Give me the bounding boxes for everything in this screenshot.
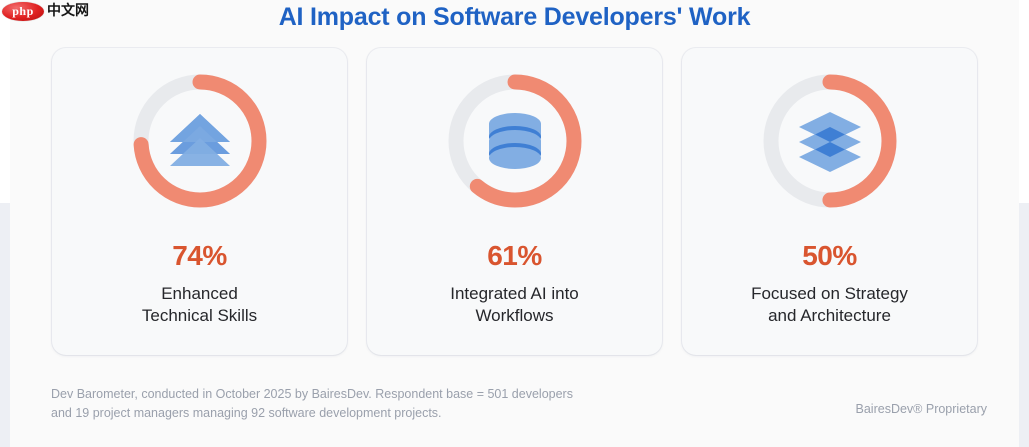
donut-gauge-1 — [125, 66, 275, 216]
donut-gauge-2-svg — [440, 66, 590, 216]
site-watermark-logo: php 中文网 — [2, 1, 89, 21]
donut-gauge-3-svg — [755, 66, 905, 216]
footer-source-line2: and 19 project managers managing 92 soft… — [51, 404, 671, 423]
stat-card-enhanced-technical-skills[interactable]: 74% Enhanced Technical Skills — [52, 48, 347, 355]
php-logo-text: php — [12, 5, 34, 17]
stat-card-label-line2: Workflows — [450, 305, 579, 327]
footer-source-line1: Dev Barometer, conducted in October 2025… — [51, 385, 671, 404]
watermark-site-name: 中文网 — [47, 4, 89, 18]
stat-card-label: Enhanced Technical Skills — [142, 283, 257, 328]
stat-percent-value: 74% — [172, 242, 227, 270]
donut-gauge-1-svg — [125, 66, 275, 216]
stat-card-label-line2: and Architecture — [751, 305, 908, 327]
donut-gauge-3 — [755, 66, 905, 216]
stat-percent-value: 50% — [802, 242, 857, 270]
stat-card-label-line2: Technical Skills — [142, 305, 257, 327]
stat-card-label-line1: Focused on Strategy — [751, 283, 908, 305]
stat-card-label-line1: Enhanced — [142, 283, 257, 305]
footer-source-note: Dev Barometer, conducted in October 2025… — [51, 385, 671, 423]
footer-proprietary-note: BairesDev® Proprietary — [856, 402, 987, 416]
stat-card-label: Integrated AI into Workflows — [450, 283, 579, 328]
donut-gauge-2 — [440, 66, 590, 216]
stat-card-row: 74% Enhanced Technical Skills — [52, 48, 977, 355]
php-logo-icon: php — [2, 2, 44, 21]
stat-percent-value: 61% — [487, 242, 542, 270]
stat-card-focused-on-strategy-and-architecture[interactable]: 50% Focused on Strategy and Architecture — [682, 48, 977, 355]
page-title: AI Impact on Software Developers' Work — [0, 0, 1029, 34]
stat-card-label-line1: Integrated AI into — [450, 283, 579, 305]
stat-card-label: Focused on Strategy and Architecture — [751, 283, 908, 328]
stat-card-integrated-ai-into-workflows[interactable]: 61% Integrated AI into Workflows — [367, 48, 662, 355]
